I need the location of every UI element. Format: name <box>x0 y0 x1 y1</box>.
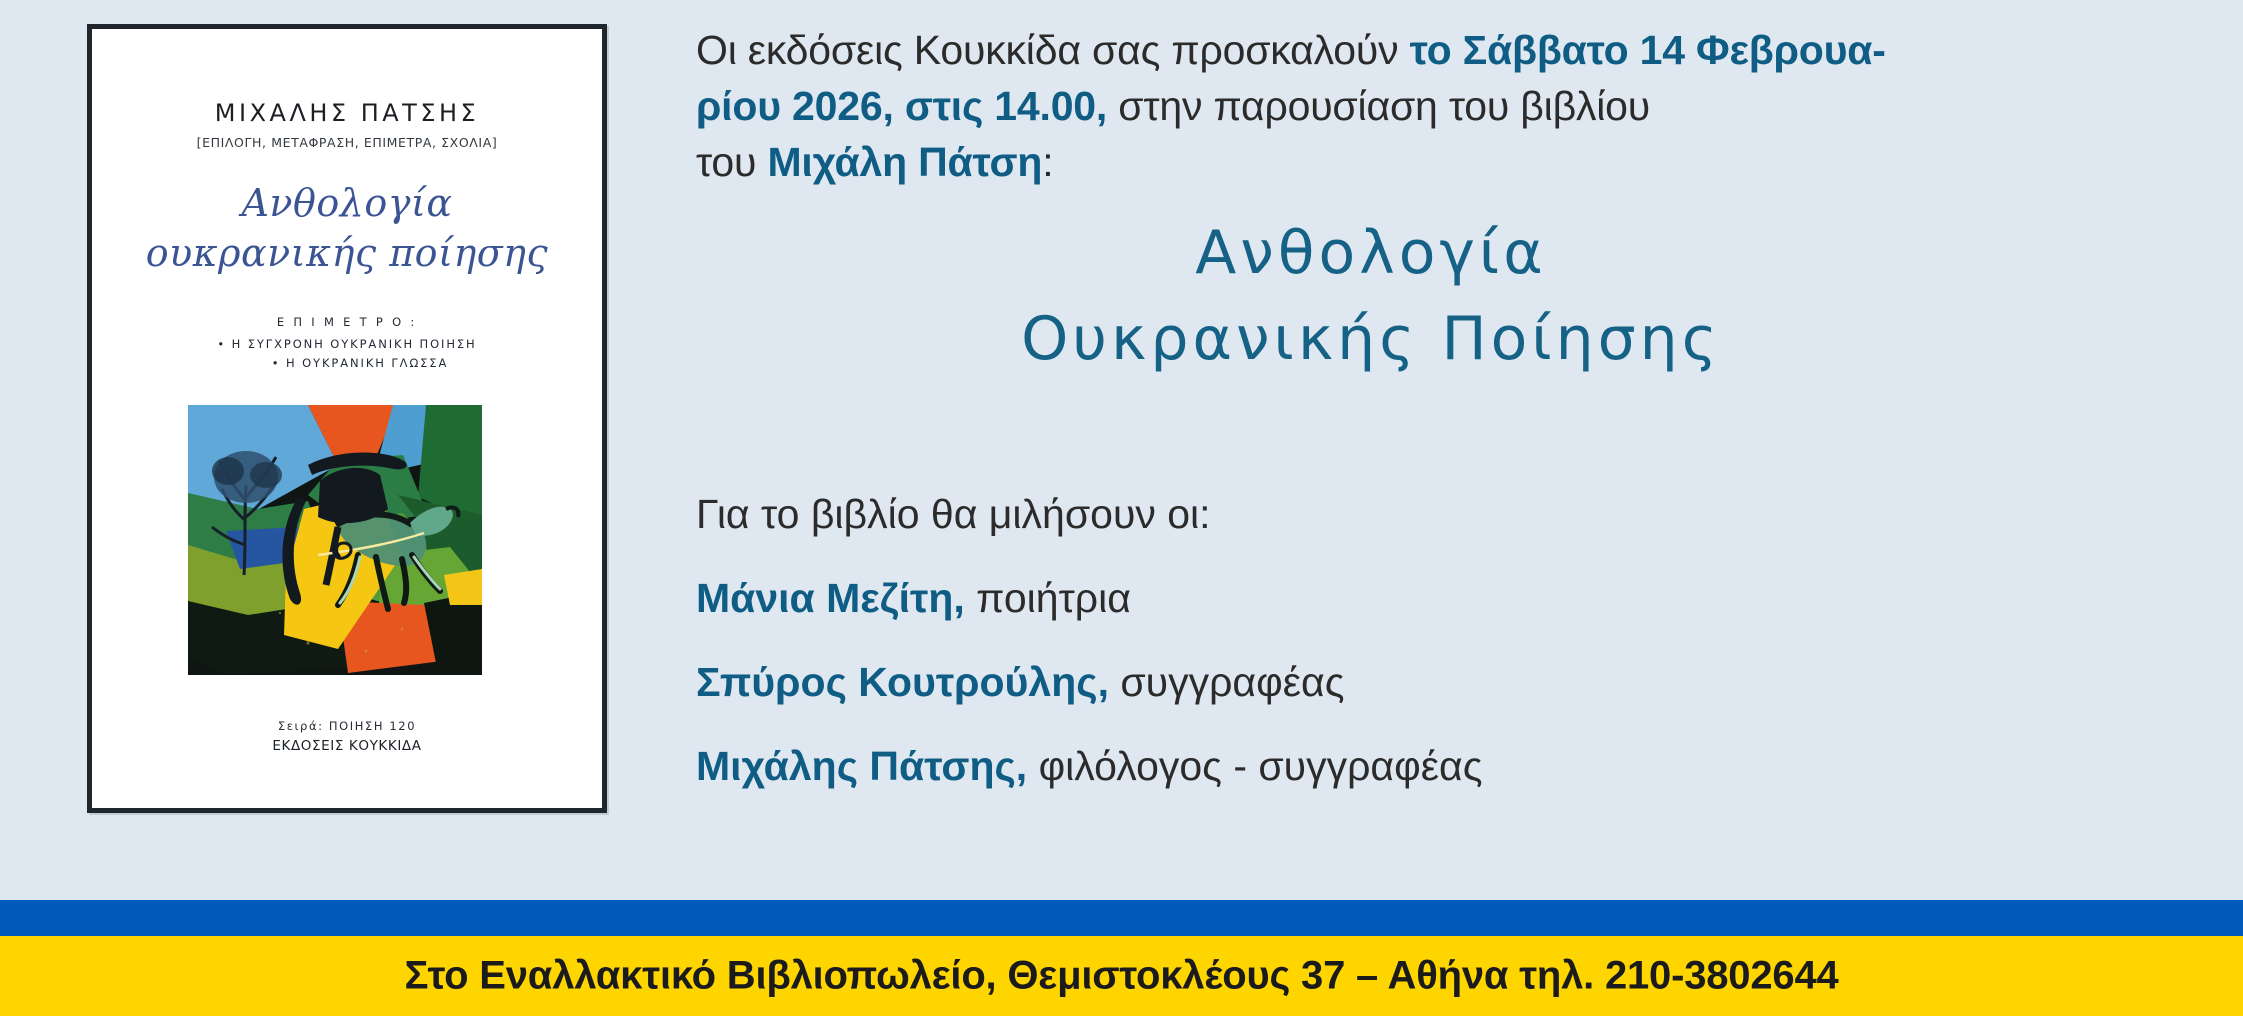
invitation-text-part-3: του <box>696 139 767 185</box>
event-title-line-1: Ανθολογία <box>696 212 2046 294</box>
horse-rider-painting-svg <box>188 405 482 675</box>
cover-publisher-label: ΕΚΔΟΣΕΙΣ ΚΟΥΚΚΙΔΑ <box>92 738 602 754</box>
cover-appendix-item-2: • Η ΟΥΚΡΑΝΙΚΗ ΓΛΩΣΣΑ <box>118 356 602 370</box>
speaker-role: φιλόλογος - συγγραφέας <box>1027 743 1482 789</box>
invitation-date-highlight-line-2: ρίου 2026, στις 14.00, <box>696 83 1107 129</box>
speaker-list-item: Σπύρος Κουτρούλης, συγγραφέας <box>696 640 2196 724</box>
invitation-text-part-4: : <box>1042 139 1053 185</box>
cover-appendix-label: Ε Π Ι Μ Ε Τ Ρ Ο : <box>92 315 602 329</box>
venue-footer-text: Στο Εναλλακτικό Βιβλιοπωλείο, Θεμιστοκλέ… <box>0 954 2243 999</box>
ukraine-flag-yellow-stripe: Στο Εναλλακτικό Βιβλιοπωλείο, Θεμιστοκλέ… <box>0 936 2243 1016</box>
book-cover-image: ΜΙΧΑΛΗΣ ΠΑΤΣΗΣ [ΕΠΙΛΟΓΗ, ΜΕΤΑΦΡΑΣΗ, ΕΠΙΜ… <box>87 24 607 813</box>
speakers-section: Για το βιβλίο θα μιλήσουν οι: Μάνια Μεζί… <box>696 472 2196 808</box>
cover-author-name: ΜΙΧΑΛΗΣ ΠΑΤΣΗΣ <box>92 99 602 127</box>
cover-title-line-1: Ανθολογία <box>92 181 602 225</box>
invitation-author-highlight: Μιχάλη Πάτση <box>767 139 1042 185</box>
invitation-date-highlight-line-1: το Σάββατο 14 Φεβρουα- <box>1410 27 1886 73</box>
invitation-paragraph: Οι εκδόσεις Κουκκίδα σας προσκαλούν το Σ… <box>696 22 2196 190</box>
speaker-role: συγγραφέας <box>1109 659 1344 705</box>
speaker-list-item: Μάνια Μεζίτη, ποιήτρια <box>696 556 2196 640</box>
invitation-text-part-1: Οι εκδόσεις Κουκκίδα σας προσκαλούν <box>696 27 1410 73</box>
book-cover-front: ΜΙΧΑΛΗΣ ΠΑΤΣΗΣ [ΕΠΙΛΟΓΗ, ΜΕΤΑΦΡΑΣΗ, ΕΠΙΜ… <box>92 29 602 808</box>
event-book-title: Ανθολογία Ουκρανικής Ποίησης <box>696 212 2196 384</box>
cover-appendix-item-1: • Η ΣΥΓΧΡΟΝΗ ΟΥΚΡΑΝΙΚΗ ΠΟΙΗΣΗ <box>92 337 602 351</box>
ukraine-flag-blue-stripe <box>0 900 2243 936</box>
cover-artwork-painting <box>188 405 482 675</box>
cover-title-line-2: ουκρανικής ποίησης <box>92 231 602 275</box>
speaker-list-item: Μιχάλης Πάτσης, φιλόλογος - συγγραφέας <box>696 724 2196 808</box>
speakers-lead-text: Για το βιβλίο θα μιλήσουν οι: <box>696 472 2196 556</box>
speaker-role: ποιήτρια <box>965 575 1131 621</box>
speaker-name: Μάνια Μεζίτη, <box>696 575 965 621</box>
event-title-line-2: Ουκρανικής Ποίησης <box>696 294 2046 384</box>
cover-author-credit: [ΕΠΙΛΟΓΗ, ΜΕΤΑΦΡΑΣΗ, ΕΠΙΜΕΤΡΑ, ΣΧΟΛΙΑ] <box>92 135 602 150</box>
event-poster: ΜΙΧΑΛΗΣ ΠΑΤΣΗΣ [ΕΠΙΛΟΓΗ, ΜΕΤΑΦΡΑΣΗ, ΕΠΙΜ… <box>0 0 2243 1016</box>
invitation-text-part-2: στην παρουσίαση του βιβλίου <box>1107 83 1650 129</box>
speaker-name: Μιχάλης Πάτσης, <box>696 743 1027 789</box>
cover-series-label: Σειρά: ΠΟΙΗΣΗ 120 <box>92 719 602 733</box>
speaker-name: Σπύρος Κουτρούλης, <box>696 659 1109 705</box>
invitation-content: Οι εκδόσεις Κουκκίδα σας προσκαλούν το Σ… <box>696 0 2243 884</box>
